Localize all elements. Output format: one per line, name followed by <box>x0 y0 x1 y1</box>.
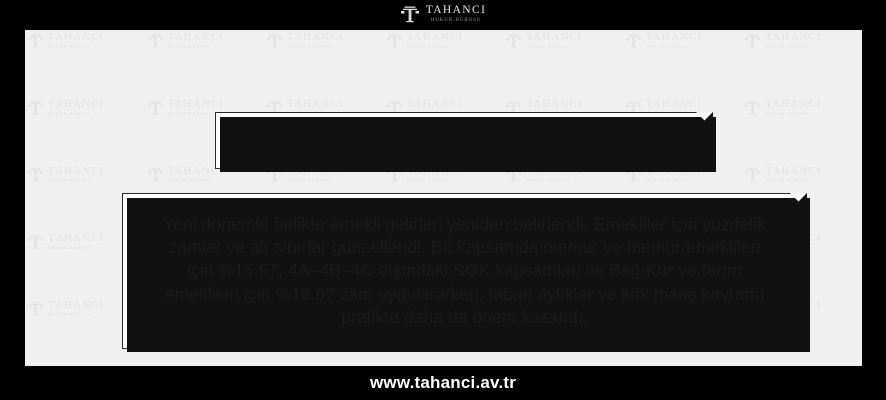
watermark-subtitle: HUKUK BÜROSU <box>765 45 821 50</box>
watermark-monogram-icon <box>27 300 44 317</box>
watermark-name: TAHANCI <box>48 166 104 177</box>
watermark-monogram-icon <box>386 32 403 49</box>
watermark-wordmark: TAHANCIHUKUK BÜROSU <box>48 32 104 49</box>
watermark-wordmark: TAHANCIHUKUK BÜROSU <box>765 99 821 116</box>
body-card-fold-triangle-icon <box>790 193 807 210</box>
tahanci-column-monogram-icon <box>400 4 420 24</box>
watermark-subtitle: HUKUK BÜROSU <box>168 179 224 184</box>
brand-subtitle: HUKUK BÜROSU <box>431 18 482 23</box>
watermark-subtitle: HUKUK BÜROSU <box>48 246 104 251</box>
watermark-monogram-icon <box>27 99 44 116</box>
watermark-tile: TAHANCIHUKUK BÜROSU <box>25 32 145 49</box>
watermark-subtitle: HUKUK BÜROSU <box>765 179 821 184</box>
website-url[interactable]: www.tahanci.av.tr <box>370 373 516 393</box>
watermark-name: TAHANCI <box>168 99 224 110</box>
title-card-fold-triangle-icon <box>696 112 713 129</box>
watermark-subtitle: HUKUK BÜROSU <box>526 45 582 50</box>
watermark-monogram-icon <box>744 166 761 183</box>
watermark-name: TAHANCI <box>526 32 582 43</box>
watermark-wordmark: TAHANCIHUKUK BÜROSU <box>48 233 104 250</box>
watermark-subtitle: HUKUK BÜROSU <box>48 179 104 184</box>
watermark-name: TAHANCI <box>48 233 104 244</box>
watermark-wordmark: TAHANCIHUKUK BÜROSU <box>168 32 224 49</box>
title-card: Emekli Maaşı Zammı <box>215 112 713 169</box>
watermark-monogram-icon <box>744 99 761 116</box>
watermark-name: TAHANCI <box>765 166 821 177</box>
brand-wordmark: TAHANCI HUKUK BÜROSU <box>426 5 487 23</box>
brand-name: TAHANCI <box>426 5 487 17</box>
watermark-tile: TAHANCIHUKUK BÜROSU <box>623 32 743 49</box>
watermark-monogram-icon <box>147 166 164 183</box>
watermark-name: TAHANCI <box>287 32 343 43</box>
watermark-monogram-icon <box>27 166 44 183</box>
top-brand-bar: TAHANCI HUKUK BÜROSU <box>0 0 886 28</box>
watermark-tile: TAHANCIHUKUK BÜROSU <box>384 32 504 49</box>
watermark-subtitle: HUKUK BÜROSU <box>646 45 702 50</box>
watermark-subtitle: HUKUK BÜROSU <box>287 45 343 50</box>
watermark-subtitle: HUKUK BÜROSU <box>168 45 224 50</box>
watermark-name: TAHANCI <box>407 32 463 43</box>
watermark-subtitle: HUKUK BÜROSU <box>48 45 104 50</box>
watermark-monogram-icon <box>625 32 642 49</box>
content-panel: TAHANCIHUKUK BÜROSUTAHANCIHUKUK BÜROSUTA… <box>25 30 862 366</box>
watermark-wordmark: TAHANCIHUKUK BÜROSU <box>48 166 104 183</box>
watermark-subtitle: HUKUK BÜROSU <box>765 112 821 117</box>
watermark-monogram-icon <box>27 32 44 49</box>
watermark-wordmark: TAHANCIHUKUK BÜROSU <box>287 32 343 49</box>
watermark-name: TAHANCI <box>168 32 224 43</box>
watermark-subtitle: HUKUK BÜROSU <box>287 179 343 184</box>
watermark-name: TAHANCI <box>48 99 104 110</box>
watermark-wordmark: TAHANCIHUKUK BÜROSU <box>765 166 821 183</box>
body-card: Yeni dönemle birlikte emekli gelirleri y… <box>122 193 807 349</box>
watermark-wordmark: TAHANCIHUKUK BÜROSU <box>765 32 821 49</box>
watermark-tile: TAHANCIHUKUK BÜROSU <box>742 166 862 183</box>
watermark-monogram-icon <box>266 32 283 49</box>
body-paragraph: Yeni dönemle birlikte emekli gelirleri y… <box>123 213 806 330</box>
watermark-monogram-icon <box>505 32 522 49</box>
watermark-tile: TAHANCIHUKUK BÜROSU <box>145 32 265 49</box>
watermark-subtitle: HUKUK BÜROSU <box>48 313 104 318</box>
watermark-monogram-icon <box>147 32 164 49</box>
watermark-wordmark: TAHANCIHUKUK BÜROSU <box>48 99 104 116</box>
watermark-tile: TAHANCIHUKUK BÜROSU <box>742 32 862 49</box>
watermark-name: TAHANCI <box>765 32 821 43</box>
watermark-name: TAHANCI <box>646 99 702 110</box>
watermark-wordmark: TAHANCIHUKUK BÜROSU <box>48 300 104 317</box>
watermark-wordmark: TAHANCIHUKUK BÜROSU <box>407 32 463 49</box>
watermark-monogram-icon <box>27 233 44 250</box>
watermark-subtitle: HUKUK BÜROSU <box>526 179 582 184</box>
watermark-tile: TAHANCIHUKUK BÜROSU <box>25 99 145 116</box>
watermark-monogram-icon <box>147 99 164 116</box>
footer-bar: www.tahanci.av.tr <box>0 366 886 400</box>
watermark-subtitle: HUKUK BÜROSU <box>407 45 463 50</box>
watermark-wordmark: TAHANCIHUKUK BÜROSU <box>526 32 582 49</box>
watermark-name: TAHANCI <box>48 32 104 43</box>
watermark-subtitle: HUKUK BÜROSU <box>48 112 104 117</box>
watermark-tile: TAHANCIHUKUK BÜROSU <box>503 32 623 49</box>
watermark-tile: TAHANCIHUKUK BÜROSU <box>742 99 862 116</box>
watermark-tile: TAHANCIHUKUK BÜROSU <box>264 32 384 49</box>
watermark-monogram-icon <box>744 32 761 49</box>
watermark-name: TAHANCI <box>287 99 343 110</box>
watermark-subtitle: HUKUK BÜROSU <box>407 179 463 184</box>
page-title: Emekli Maaşı Zammı <box>311 126 618 156</box>
watermark-subtitle: HUKUK BÜROSU <box>646 179 702 184</box>
watermark-name: TAHANCI <box>646 32 702 43</box>
watermark-name: TAHANCI <box>526 99 582 110</box>
watermark-name: TAHANCI <box>765 99 821 110</box>
watermark-name: TAHANCI <box>48 300 104 311</box>
watermark-tile: TAHANCIHUKUK BÜROSU <box>25 166 145 183</box>
watermark-name: TAHANCI <box>407 99 463 110</box>
watermark-wordmark: TAHANCIHUKUK BÜROSU <box>646 32 702 49</box>
